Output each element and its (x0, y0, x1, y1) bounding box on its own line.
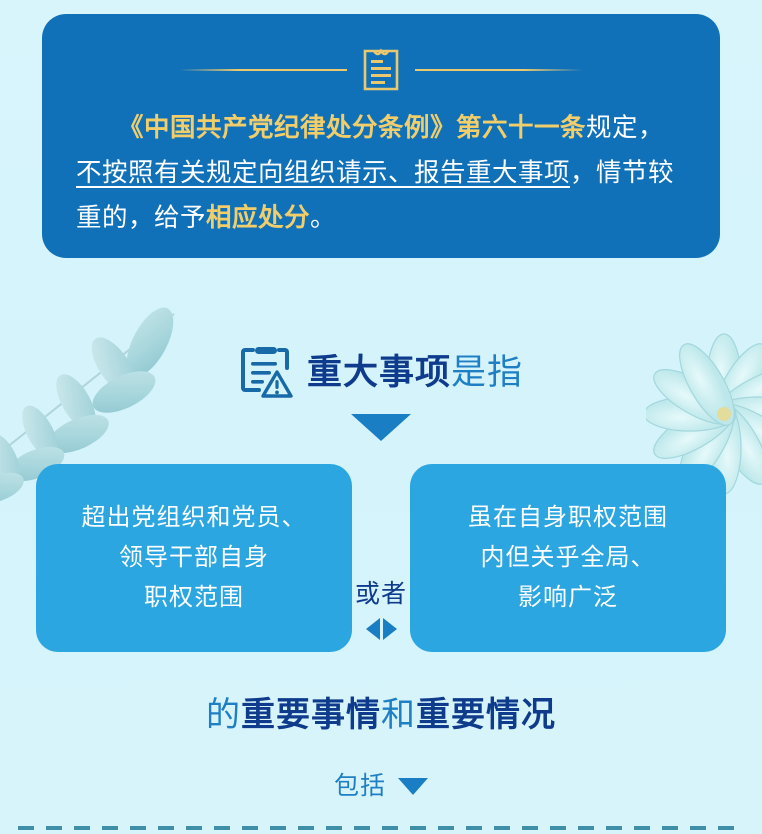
quote-plain-3: 重的，给予 (76, 204, 206, 232)
option-right-line-1: 虽在自身职权范围 (468, 498, 668, 538)
quote-citation: 《中国共产党纪律处分条例》第六十一条 (118, 114, 586, 142)
section-heading-text: 重大事项是指 (307, 355, 523, 390)
options-group: 超出党组织和党员、 领导干部自身 职权范围 或者 虽在自身职权范围 内但关乎全局… (0, 464, 762, 652)
quote-plain-2: ，情节较 (570, 159, 674, 187)
conclusion-part-4: 重要情况 (416, 696, 556, 734)
quote-plain-4: 。 (310, 204, 336, 232)
option-right-text: 虽在自身职权范围 内但关乎全局、 影响广泛 (468, 498, 668, 618)
clipboard-document-icon (361, 46, 401, 94)
section-heading: 重大事项是指 (0, 344, 762, 400)
regulation-quote-text: 《中国共产党纪律处分条例》第六十一条规定， 不按照有关规定向组织请示、报告重大事… (76, 106, 686, 241)
quote-line-3: 重的，给予相应处分。 (76, 196, 686, 241)
clipboard-warning-icon (239, 344, 293, 400)
quote-penalty: 相应处分 (206, 204, 310, 232)
option-box-left: 超出党组织和党员、 领导干部自身 职权范围 (36, 464, 352, 652)
option-left-line-1: 超出党组织和党员、 (82, 498, 307, 538)
include-label: 包括 (334, 774, 386, 799)
quote-plain-1: 规定， (586, 114, 664, 142)
option-right-line-3: 影响广泛 (468, 578, 668, 618)
triangle-right-icon (383, 618, 397, 640)
option-right-line-2: 内但关乎全局、 (468, 538, 668, 578)
quote-line-2: 不按照有关规定向组织请示、报告重大事项，情节较 (76, 151, 686, 196)
regulation-quote-card: 《中国共产党纪律处分条例》第六十一条规定， 不按照有关规定向组织请示、报告重大事… (42, 14, 720, 258)
conclusion-part-2: 重要事情 (241, 696, 381, 734)
option-left-line-3: 职权范围 (82, 578, 307, 618)
conclusion-text: 的重要事情和重要情况 (0, 698, 762, 732)
divider-rule-left (179, 69, 347, 71)
conclusion-part-1: 的 (206, 696, 241, 734)
arrow-down-icon (351, 414, 411, 441)
arrow-down-icon-small (398, 778, 428, 795)
dashed-divider (18, 826, 744, 830)
heading-strong: 重大事项 (307, 353, 451, 392)
option-left-text: 超出党组织和党员、 领导干部自身 职权范围 (82, 498, 307, 618)
divider-rule-right (415, 69, 583, 71)
heading-soft: 是指 (451, 353, 523, 392)
triangle-left-icon (366, 618, 380, 640)
quote-line-1: 《中国共产党纪律处分条例》第六十一条规定， (76, 106, 686, 151)
option-left-line-2: 领导干部自身 (82, 538, 307, 578)
option-box-right: 虽在自身职权范围 内但关乎全局、 影响广泛 (410, 464, 726, 652)
conclusion-part-3: 和 (381, 696, 416, 734)
infographic-page: 《中国共产党纪律处分条例》第六十一条规定， 不按照有关规定向组织请示、报告重大事… (0, 0, 762, 834)
card-divider (76, 40, 686, 100)
include-row: 包括 (0, 774, 762, 799)
quote-underlined-clause: 不按照有关规定向组织请示、报告重大事项 (76, 159, 570, 187)
